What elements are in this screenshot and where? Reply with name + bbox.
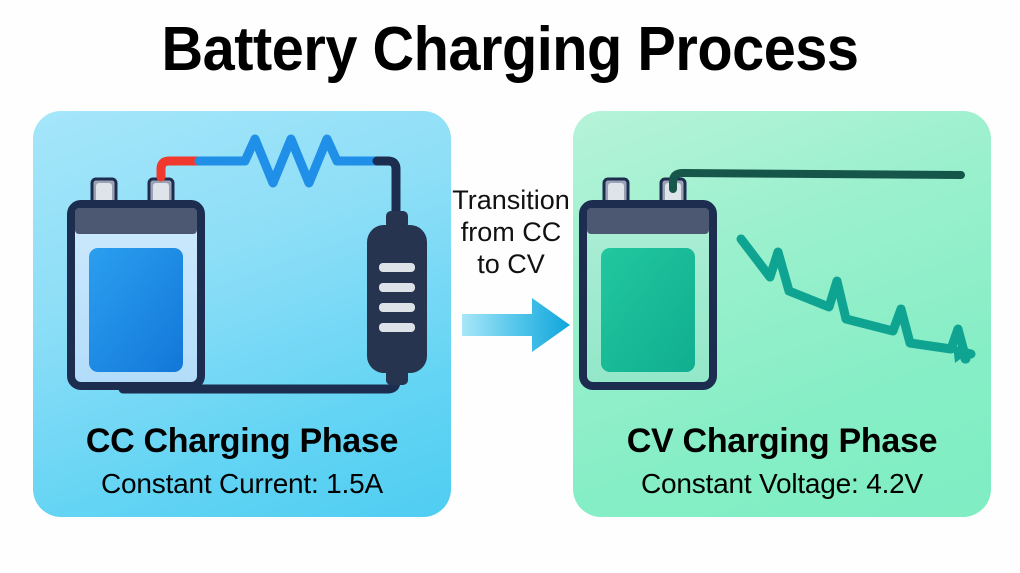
cc-resistor-zigzag-icon bbox=[199, 139, 381, 183]
panel-cv-charging-phase: CV Charging Phase Constant Voltage: 4.2V bbox=[573, 111, 991, 517]
page-title: Battery Charging Process bbox=[36, 14, 985, 86]
cc-caption-title: CC Charging Phase bbox=[33, 421, 451, 461]
cv-decaying-current-curve-icon bbox=[741, 239, 971, 363]
diagram-canvas: Battery Charging Process bbox=[0, 0, 1020, 573]
cc-charger-lead-top bbox=[377, 161, 396, 219]
cc-caption-subtitle: Constant Current: 1.5A bbox=[33, 467, 451, 501]
cv-output-wire bbox=[673, 173, 961, 189]
cc-positive-lead bbox=[161, 161, 201, 177]
cv-battery-icon bbox=[583, 204, 713, 386]
transition-line-1: Transition bbox=[443, 184, 579, 216]
panel-cc-charging-phase: CC Charging Phase Constant Current: 1.5A bbox=[33, 111, 451, 517]
cc-battery-icon bbox=[71, 204, 201, 386]
transition-line-3: to CV bbox=[443, 248, 579, 280]
cv-caption-title: CV Charging Phase bbox=[573, 421, 991, 461]
transition-line-2: from CC bbox=[443, 216, 579, 248]
cc-charger-brick-icon bbox=[367, 211, 427, 385]
right-arrow-icon bbox=[460, 296, 572, 354]
transition-label: Transition from CC to CV bbox=[443, 184, 579, 280]
cv-caption-subtitle: Constant Voltage: 4.2V bbox=[573, 467, 991, 501]
